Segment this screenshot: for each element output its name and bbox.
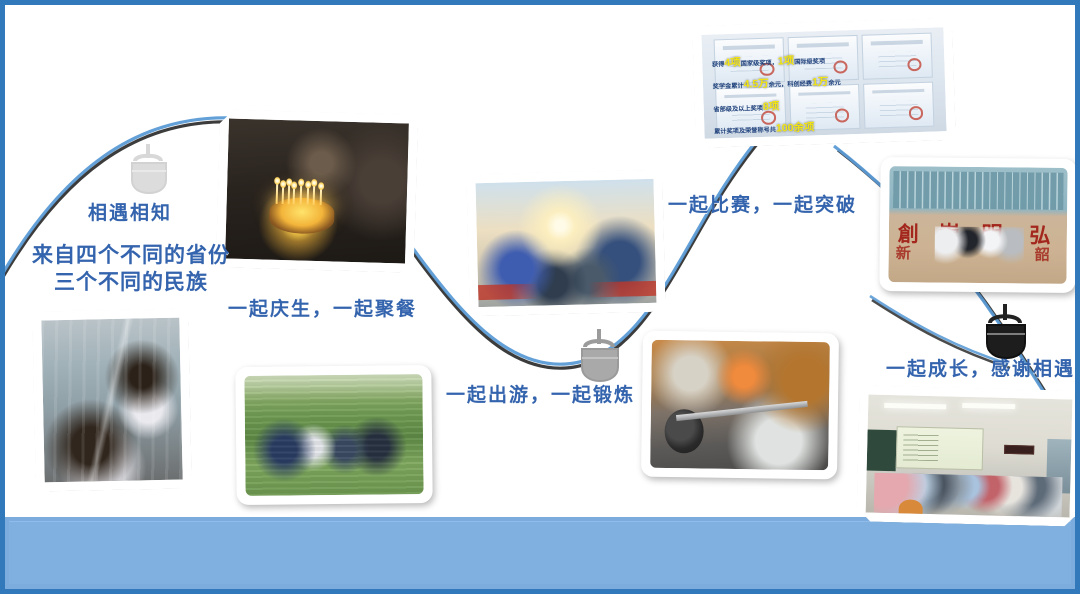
footer-band-inner bbox=[9, 521, 1071, 584]
cert-line2-pre: 奖学金累计 bbox=[713, 83, 744, 91]
candle-flames bbox=[273, 181, 331, 205]
cert-line2-num2: 1万 bbox=[812, 76, 829, 89]
caption-trip: 一起出游，一起锻炼 bbox=[446, 380, 635, 407]
cert-line2-num1: 4.5万 bbox=[743, 78, 768, 91]
gondola-icon-right bbox=[978, 300, 1036, 362]
birthday-cake-photo bbox=[216, 109, 418, 272]
caption-grow: 一起成长，感谢相遇 bbox=[886, 354, 1075, 381]
cert-line3-num: 8项 bbox=[763, 100, 780, 113]
chalkboard bbox=[867, 430, 897, 471]
cert-line1-pre: 获得 bbox=[712, 61, 725, 68]
cert-line2-mid: 余元，科创经费 bbox=[769, 81, 813, 89]
building-windows bbox=[893, 171, 1064, 210]
calli-char-5: 新 bbox=[896, 242, 911, 263]
classroom-photo bbox=[856, 385, 1080, 526]
ceiling-light-1 bbox=[884, 403, 945, 409]
sunrise-summit-photo bbox=[466, 170, 665, 317]
cert-line1-num2: 1项 bbox=[778, 55, 795, 68]
four-students bbox=[935, 227, 1025, 284]
cert-line1-mid: 国家级奖项， bbox=[741, 59, 778, 67]
subtitle-line-2: 三个不同的民族 bbox=[22, 270, 240, 297]
certificates-photo: 获得4项国家级奖项，1项国际级奖项 奖学金累计4.5万余元，科创经费1万余元 省… bbox=[692, 18, 956, 148]
calli-char-6: 韶 bbox=[1035, 243, 1050, 264]
caption-birthday: 一起庆生，一起聚餐 bbox=[228, 294, 417, 321]
cert-line2-post: 余元 bbox=[828, 80, 841, 87]
cert-line1-num1: 4项 bbox=[724, 56, 741, 69]
subtitle-block: 来自四个不同的省份 三个不同的民族 bbox=[22, 243, 240, 297]
cert-line4-pre: 累计奖项及荣誉称号共 bbox=[714, 127, 776, 136]
gondola-icon-left bbox=[122, 140, 178, 198]
section-title: 相遇相知 bbox=[88, 198, 172, 225]
gondola-icon-middle bbox=[572, 326, 630, 386]
slide-canvas: 获得4项国家级奖项，1项国际级奖项 奖学金累计4.5万余元，科创经费1万余元 省… bbox=[0, 0, 1080, 594]
caption-compete: 一起比赛，一起突破 bbox=[668, 190, 857, 217]
cert-line1-post: 国际级奖项 bbox=[794, 58, 825, 66]
subtitle-line-1: 来自四个不同的省份 bbox=[22, 243, 240, 270]
led-banner bbox=[1004, 445, 1035, 455]
projector-screen bbox=[895, 426, 984, 470]
cert-line3-pre: 省部级及以上奖项 bbox=[713, 105, 763, 114]
street-selfie-photo bbox=[32, 308, 192, 491]
wall-calligraphy-photo: 創 崇 明 弘 新 韶 bbox=[879, 157, 1076, 293]
garden-group-photo bbox=[235, 365, 432, 505]
gym-benchpress-photo bbox=[641, 331, 839, 480]
certificate-stats-overlay: 获得4项国家级奖项，1项国际级奖项 奖学金累计4.5万余元，科创经费1万余元 省… bbox=[712, 47, 918, 139]
cert-line4-num: 100余项 bbox=[776, 121, 815, 134]
ceiling-light-2 bbox=[962, 403, 1015, 409]
seated-person bbox=[898, 499, 923, 517]
